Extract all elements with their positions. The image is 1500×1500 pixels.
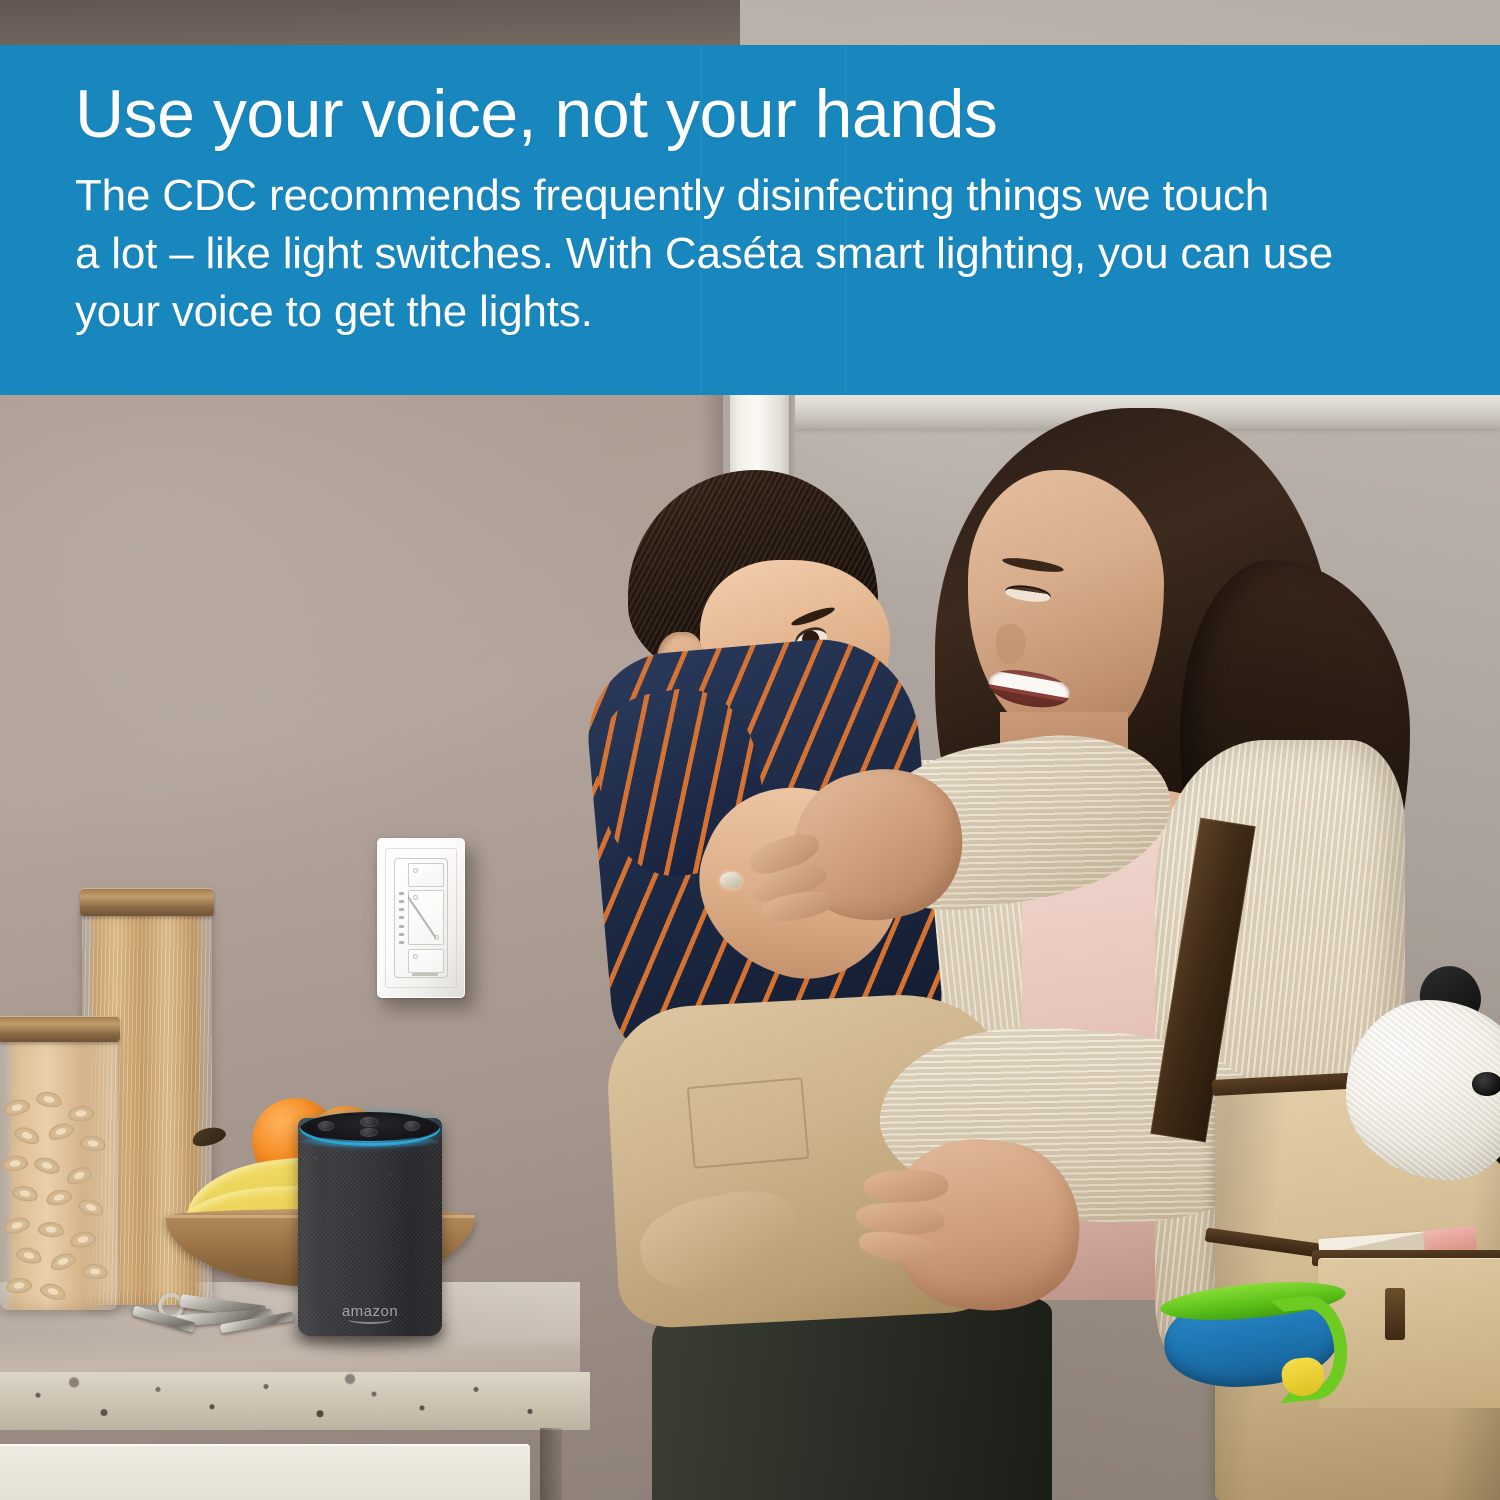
finger (864, 1169, 949, 1202)
bag-front-pocket (1318, 1258, 1500, 1408)
woman-pants (652, 1296, 1052, 1500)
plush-nose-icon (1472, 1072, 1500, 1096)
banner-body-line-1: The CDC recommends frequently disinfecti… (75, 167, 1430, 225)
bag-buckle (1385, 1288, 1405, 1340)
banner-body-line-3: your voice to get the lights. (75, 283, 1430, 341)
wedding-ring (720, 872, 742, 889)
banner-headline: Use your voice, not your hands (75, 75, 1430, 153)
banner-body-copy: The CDC recommends frequently disinfecti… (75, 167, 1430, 341)
banner-seam (700, 45, 702, 395)
child-pants-pocket (687, 1077, 810, 1169)
banner-body-line-2: a lot – like light switches. With Caséta… (75, 225, 1430, 283)
promo-banner: Use your voice, not your hands The CDC r… (0, 45, 1500, 395)
banner-seam (845, 45, 847, 395)
screenshot-root: amazon (0, 0, 1500, 1500)
